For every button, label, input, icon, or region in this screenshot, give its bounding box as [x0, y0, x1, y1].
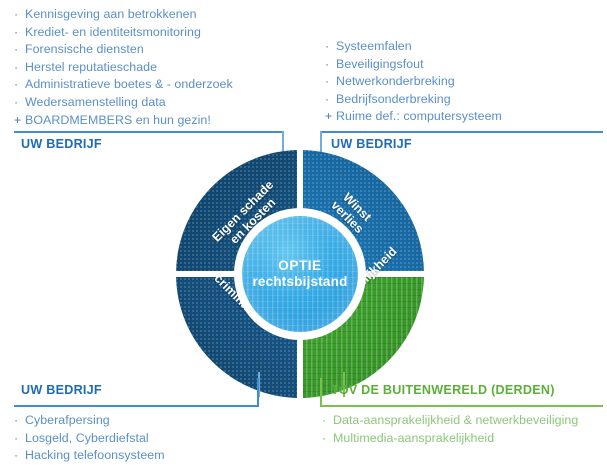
- list-item: ·Administratieve boetes & - onderzoek: [14, 76, 233, 94]
- list-item-plus: +BOARDMEMBERS en hun gezin!: [14, 112, 233, 130]
- list-item: ·Kennisgeving aan betrokkenen: [14, 6, 233, 24]
- header-label: UW BEDRIJF: [21, 137, 102, 151]
- list-item: ·Beveiligingsfout: [325, 56, 502, 74]
- bullet-list-bottom-left: ·Cyberafpersing ·Losgeld, Cyberdiefstal …: [14, 412, 165, 465]
- list-item-label: Netwerkonderbreking: [336, 74, 455, 88]
- bullet-list-bottom-right: ·Data-aansprakelijkheid & netwerkbeveili…: [322, 412, 578, 447]
- bullet-marker: ·: [322, 412, 333, 430]
- list-item-label: Multimedia-aansprakelijkheid: [333, 431, 494, 445]
- list-item: ·Herstel reputatieschade: [14, 59, 233, 77]
- bullet-marker: ·: [325, 56, 336, 74]
- list-item: ·Netwerkonderbreking: [325, 73, 502, 91]
- list-item-label: Administratieve boetes & - onderzoek: [25, 77, 233, 91]
- list-item: ·Wedersamenstelling data: [14, 94, 233, 112]
- center-text: OPTIE rechtsbijstand: [242, 216, 358, 332]
- list-item-label: BOARDMEMBERS en hun gezin!: [25, 113, 211, 127]
- list-item-label: Beveiligingsfout: [336, 57, 424, 71]
- list-item: ·Cyberafpersing: [14, 412, 165, 430]
- list-item-label: Ruime def.: computersysteem: [336, 109, 502, 123]
- center-title: OPTIE: [278, 258, 322, 274]
- bullet-list-top-left: ·Kennisgeving aan betrokkenen ·Krediet- …: [14, 6, 233, 129]
- list-item-label: Cyberafpersing: [25, 413, 110, 427]
- header-label: UW BEDRIJF: [331, 137, 412, 151]
- bullet-marker: ·: [14, 59, 25, 77]
- donut-diagram: Eigen schade en kosten Winst verlies Aan…: [176, 150, 424, 398]
- bullet-marker: ·: [325, 91, 336, 109]
- bullet-marker: ·: [14, 94, 25, 112]
- header-rule: [14, 131, 284, 133]
- list-item: ·Hacking telefoonsysteem: [14, 447, 165, 465]
- bullet-marker: ·: [14, 6, 25, 24]
- bullet-marker: ·: [14, 41, 25, 59]
- bullet-marker: ·: [325, 38, 336, 56]
- plus-marker: +: [14, 112, 25, 130]
- plus-marker: +: [325, 108, 336, 126]
- list-item-plus: +Ruime def.: computersysteem: [325, 108, 502, 126]
- list-item-label: Herstel reputatieschade: [25, 60, 157, 74]
- bullet-marker: ·: [14, 76, 25, 94]
- bullet-marker: ·: [14, 430, 25, 448]
- bullet-marker: ·: [14, 447, 25, 465]
- list-item-label: Losgeld, Cyberdiefstal: [25, 431, 149, 445]
- list-item-label: Kennisgeving aan betrokkenen: [25, 7, 197, 21]
- bullet-marker: ·: [325, 73, 336, 91]
- list-item: ·Krediet- en identiteitsmonitoring: [14, 24, 233, 42]
- header-label: TOV DE BUITENWERELD (DERDEN): [331, 383, 555, 397]
- header-rule-tick: [320, 378, 322, 406]
- infographic-canvas: ·Kennisgeving aan betrokkenen ·Krediet- …: [0, 0, 607, 465]
- header-rule: [14, 405, 259, 407]
- bullet-marker: ·: [14, 412, 25, 430]
- list-item: ·Bedrijfsonderbreking: [325, 91, 502, 109]
- list-item: ·Losgeld, Cyberdiefstal: [14, 430, 165, 448]
- header-rule: [320, 131, 603, 133]
- bullet-marker: ·: [14, 24, 25, 42]
- list-item-label: Forensische diensten: [25, 42, 144, 56]
- list-item: ·Data-aansprakelijkheid & netwerkbeveili…: [322, 412, 578, 430]
- list-item-label: Data-aansprakelijkheid & netwerkbeveilig…: [333, 413, 578, 427]
- header-label: UW BEDRIJF: [21, 383, 102, 397]
- list-item-label: Hacking telefoonsysteem: [25, 448, 165, 462]
- center-subtitle: rechtsbijstand: [252, 274, 347, 290]
- list-item-label: Wedersamenstelling data: [25, 95, 166, 109]
- header-rule-tick: [257, 378, 259, 406]
- list-item-label: Bedrijfsonderbreking: [336, 92, 451, 106]
- header-rule: [320, 405, 603, 407]
- list-item-label: Krediet- en identiteitsmonitoring: [25, 25, 201, 39]
- list-item: ·Forensische diensten: [14, 41, 233, 59]
- donut-center[interactable]: OPTIE rechtsbijstand: [242, 216, 358, 332]
- bullet-list-top-right: ·Systeemfalen ·Beveiligingsfout ·Netwerk…: [325, 38, 502, 126]
- list-item: ·Multimedia-aansprakelijkheid: [322, 430, 578, 448]
- list-item-label: Systeemfalen: [336, 39, 412, 53]
- list-item: ·Systeemfalen: [325, 38, 502, 56]
- bullet-marker: ·: [322, 430, 333, 448]
